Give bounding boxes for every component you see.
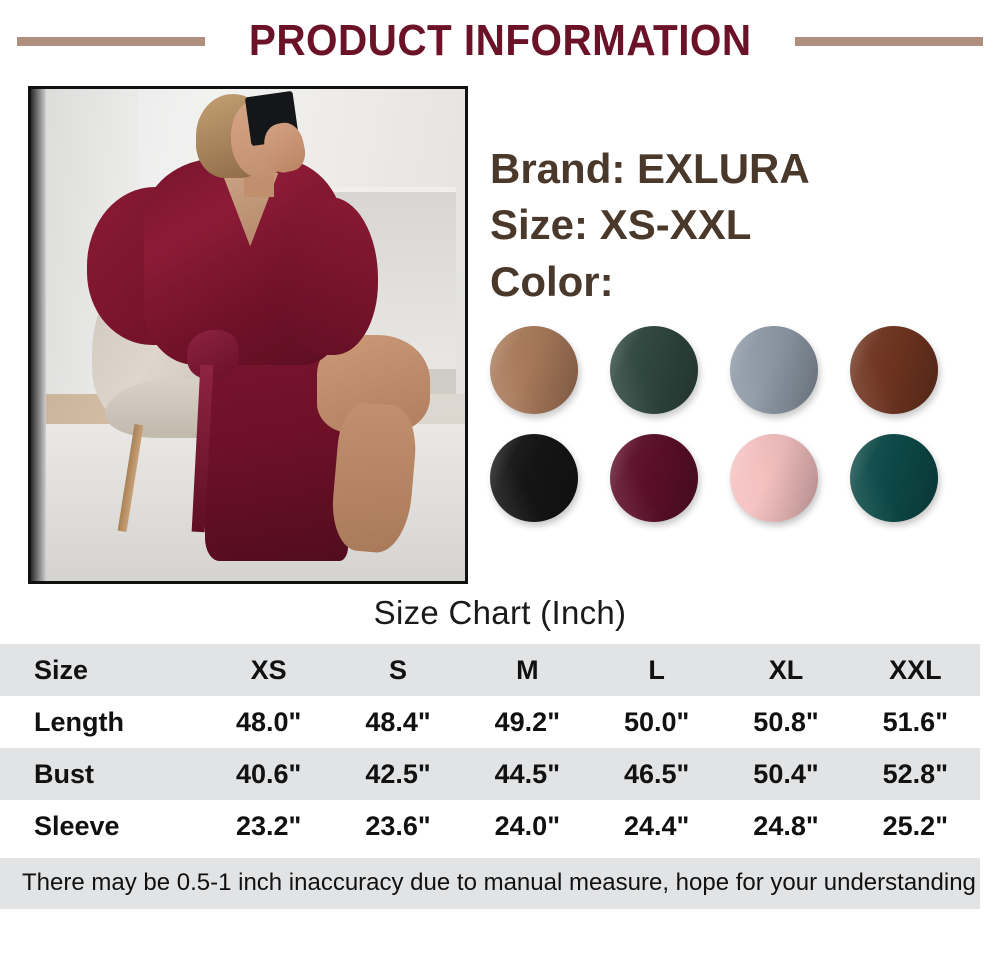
cell-bust-l: 46.5"	[592, 748, 721, 800]
model-waist-tie-knot	[187, 330, 239, 379]
cell-length-xs: 48.0"	[204, 696, 333, 748]
cell-bust-s: 42.5"	[333, 748, 462, 800]
color-swatch-dark-green[interactable]	[610, 326, 698, 414]
header-cell-s: S	[333, 644, 462, 696]
cell-bust-m: 44.5"	[463, 748, 592, 800]
cell-length-xxl: 51.6"	[851, 696, 980, 748]
header-rule-right	[795, 37, 983, 46]
spec-size-value: XS-XXL	[600, 201, 752, 248]
cell-bust-xxl: 52.8"	[851, 748, 980, 800]
cell-sleeve-xl: 24.8"	[721, 800, 850, 852]
row-label-bust: Bust	[0, 748, 204, 800]
color-swatch-burgundy[interactable]	[610, 434, 698, 522]
size-chart-title: Size Chart (Inch)	[0, 588, 1000, 644]
spec-size: Size: XS-XXL	[490, 197, 1000, 253]
cell-length-l: 50.0"	[592, 696, 721, 748]
color-swatch-teal[interactable]	[850, 434, 938, 522]
scene-mirror-edge	[31, 89, 46, 581]
cell-length-s: 48.4"	[333, 696, 462, 748]
cell-sleeve-xxl: 25.2"	[851, 800, 980, 852]
product-overview: Brand: EXLURA Size: XS-XXL Color:	[0, 78, 1000, 588]
spec-size-label: Size:	[490, 201, 588, 248]
measurement-disclaimer: There may be 0.5-1 inch inaccuracy due t…	[0, 858, 980, 909]
spec-brand-label: Brand:	[490, 145, 625, 192]
header-cell-xl: XL	[721, 644, 850, 696]
color-swatch-rust-brown[interactable]	[850, 326, 938, 414]
header-cell-l: L	[592, 644, 721, 696]
table-row: Length 48.0" 48.4" 49.2" 50.0" 50.8" 51.…	[0, 696, 980, 748]
color-swatch-camel[interactable]	[490, 326, 578, 414]
cell-sleeve-m: 24.0"	[463, 800, 592, 852]
color-swatch-grid	[490, 326, 1000, 522]
model-sleeve-right	[283, 197, 378, 354]
row-label-sleeve: Sleeve	[0, 800, 204, 852]
color-swatch-pink[interactable]	[730, 434, 818, 522]
product-photo-scene	[31, 89, 465, 581]
product-photo	[28, 86, 468, 584]
header-cell-size: Size	[0, 644, 204, 696]
header-cell-xs: XS	[204, 644, 333, 696]
spec-brand-value: EXLURA	[637, 145, 810, 192]
cell-bust-xs: 40.6"	[204, 748, 333, 800]
table-header-row: Size XS S M L XL XXL	[0, 644, 980, 696]
cell-sleeve-s: 23.6"	[333, 800, 462, 852]
cell-bust-xl: 50.4"	[721, 748, 850, 800]
cell-sleeve-l: 24.4"	[592, 800, 721, 852]
header-cell-m: M	[463, 644, 592, 696]
page-title: PRODUCT INFORMATION	[249, 16, 752, 66]
cell-length-xl: 50.8"	[721, 696, 850, 748]
color-swatch-gray-blue[interactable]	[730, 326, 818, 414]
cell-length-m: 49.2"	[463, 696, 592, 748]
spec-color-label: Color:	[490, 254, 1000, 310]
table-row: Bust 40.6" 42.5" 44.5" 46.5" 50.4" 52.8"	[0, 748, 980, 800]
cell-sleeve-xs: 23.2"	[204, 800, 333, 852]
header-cell-xxl: XXL	[851, 644, 980, 696]
size-chart-table: Size XS S M L XL XXL Length 48.0" 48.4" …	[0, 644, 980, 852]
spec-list: Brand: EXLURA Size: XS-XXL Color:	[468, 86, 1000, 588]
size-chart-body: Size XS S M L XL XXL Length 48.0" 48.4" …	[0, 644, 980, 852]
color-swatch-black[interactable]	[490, 434, 578, 522]
table-row: Sleeve 23.2" 23.6" 24.0" 24.4" 24.8" 25.…	[0, 800, 980, 852]
header-rule-left	[17, 37, 205, 46]
spec-brand: Brand: EXLURA	[490, 141, 1000, 197]
page-header: PRODUCT INFORMATION	[0, 0, 1000, 78]
row-label-length: Length	[0, 696, 204, 748]
